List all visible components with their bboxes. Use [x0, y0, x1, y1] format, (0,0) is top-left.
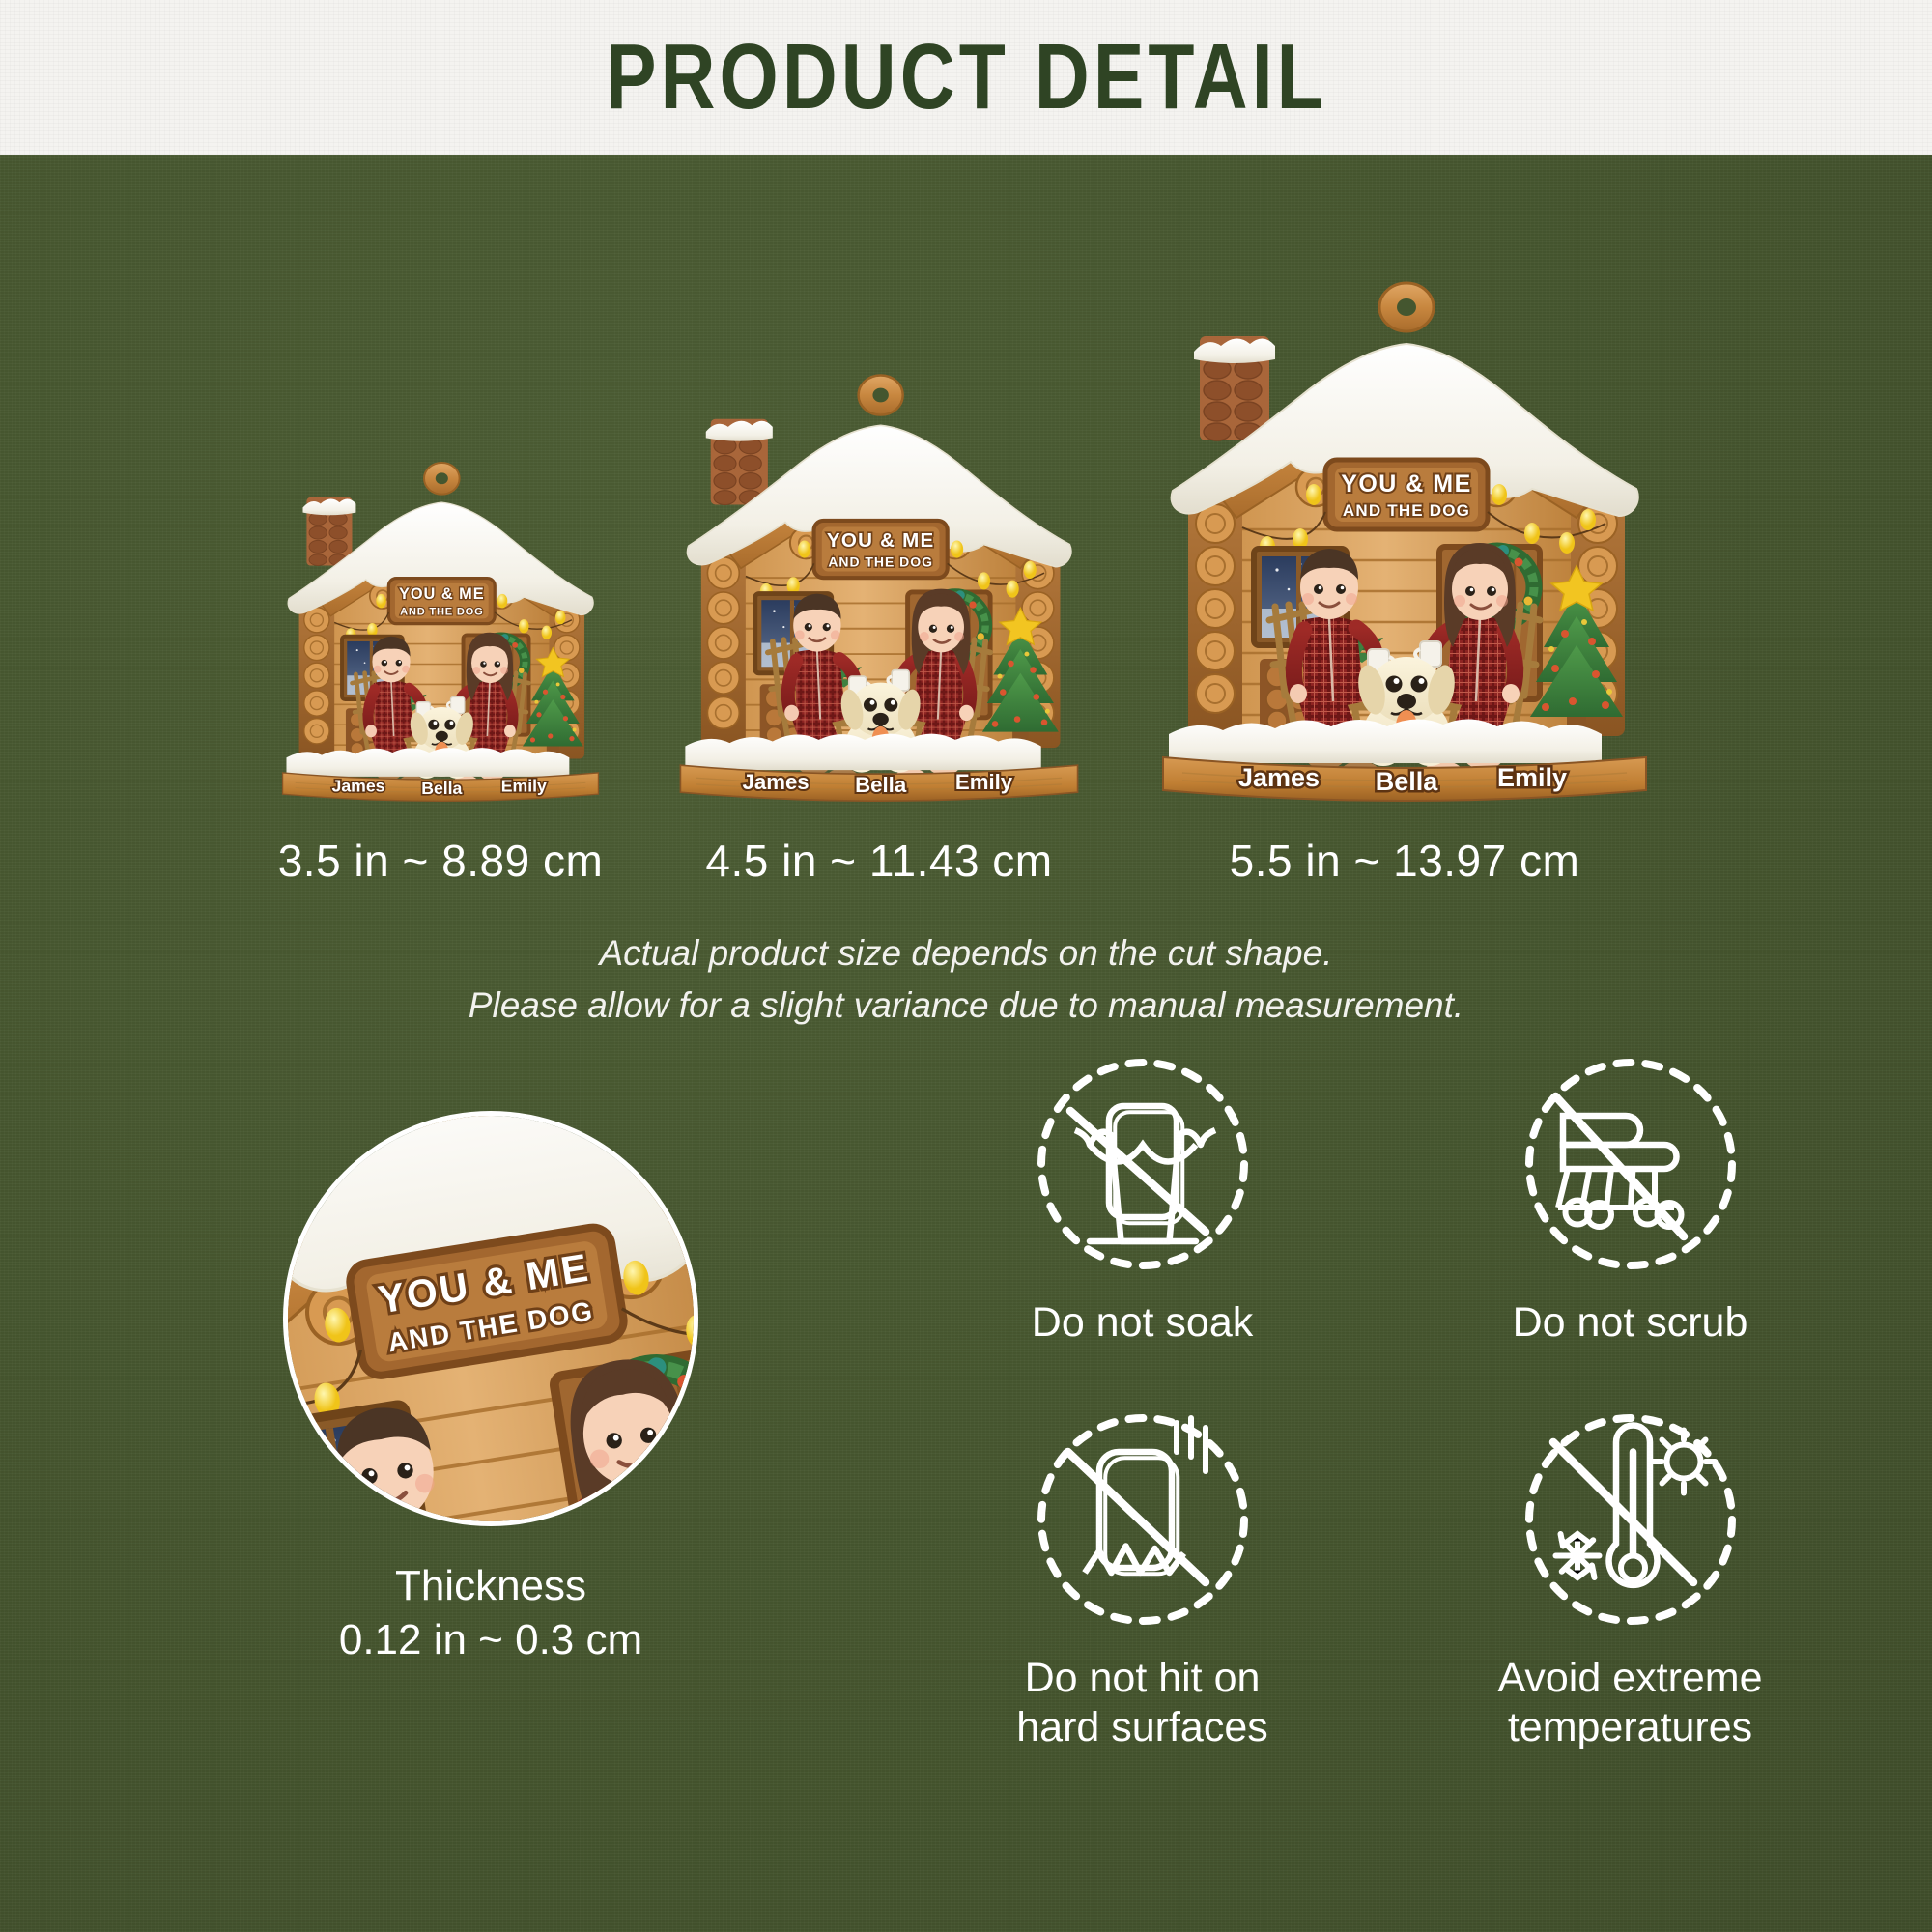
- lower-section: James Bella Thickness 0.12 in ~ 0.3 cm: [0, 1121, 1932, 1932]
- care-label-no-hit: Do not hit on hard surfaces: [1016, 1654, 1268, 1753]
- ornament-name-2: Bella: [421, 779, 462, 798]
- ornament-artwork: James Bella Emily: [276, 461, 605, 802]
- care-item-no-scrub: Do not scrub: [1386, 1043, 1874, 1349]
- ornament-name-1: James: [1238, 763, 1320, 792]
- ornament-closeup-artwork: James Bella: [283, 1111, 698, 1526]
- thickness-value: 0.12 in ~ 0.3 cm: [339, 1613, 642, 1667]
- thickness-closeup-circle: James Bella: [283, 1111, 698, 1526]
- care-label-no-scrub: Do not scrub: [1513, 1298, 1748, 1349]
- care-label-no-temp-line2: temperatures: [1508, 1704, 1752, 1750]
- thickness-title: Thickness: [339, 1559, 642, 1613]
- size-option-medium: James Bella Emily 4.5 in ~ 11.43 cm: [672, 373, 1086, 887]
- size-label-large: 5.5 in ~ 13.97 cm: [1230, 835, 1580, 887]
- care-label-no-hit-line1: Do not hit on: [1025, 1655, 1261, 1701]
- size-option-small: James Bella Emily 3.5 in ~ 8.89 cm: [276, 461, 605, 887]
- no-hit-icon: [1022, 1399, 1264, 1640]
- ornament-name-1: James: [743, 770, 810, 794]
- ornament-name-2: Bella: [1376, 767, 1439, 796]
- page-title: PRODUCT DETAIL: [606, 24, 1327, 130]
- care-label-no-hit-line2: hard surfaces: [1016, 1704, 1268, 1750]
- ornament-preview-medium: James Bella Emily: [672, 373, 1086, 802]
- care-item-no-hit: Do not hit on hard surfaces: [898, 1399, 1386, 1753]
- care-instructions-grid: Do not soak: [898, 1043, 1874, 1753]
- disclaimer-line-1: Actual product size depends on the cut s…: [0, 927, 1932, 980]
- ornament-preview-small: James Bella Emily: [276, 461, 605, 802]
- no-soak-icon: [1022, 1043, 1264, 1285]
- no-temperature-icon: [1510, 1399, 1751, 1640]
- ornament-name-3: Emily: [955, 770, 1013, 794]
- size-label-small: 3.5 in ~ 8.89 cm: [278, 835, 604, 887]
- care-label-no-temperature: Avoid extreme temperatures: [1497, 1654, 1762, 1753]
- care-item-no-temperature: Avoid extreme temperatures: [1386, 1399, 1874, 1753]
- disclaimer-line-2: Please allow for a slight variance due t…: [0, 980, 1932, 1032]
- thickness-closeup-art: James Bella: [283, 1111, 698, 1526]
- ornament-artwork: James Bella Emily: [1153, 280, 1656, 802]
- page-header: PRODUCT DETAIL: [0, 0, 1932, 155]
- product-detail-body: James Bella Emily 3.5 in ~ 8.89 cm James…: [0, 155, 1932, 1932]
- ornament-name-2: Bella: [855, 773, 907, 797]
- ornament-preview-large: James Bella Emily: [1153, 280, 1656, 802]
- thickness-block: James Bella Thickness 0.12 in ~ 0.3 cm: [240, 1111, 742, 1668]
- no-scrub-icon: [1510, 1043, 1751, 1285]
- size-option-large: James Bella Emily 5.5 in ~ 13.97 cm: [1153, 280, 1656, 887]
- ornament-artwork: James Bella Emily: [672, 373, 1086, 802]
- care-label-no-temp-line1: Avoid extreme: [1497, 1655, 1762, 1701]
- care-item-no-soak: Do not soak: [898, 1043, 1386, 1349]
- ornament-name-3: Emily: [501, 777, 547, 796]
- ornament-name-1: James: [332, 777, 385, 796]
- size-label-medium: 4.5 in ~ 11.43 cm: [705, 835, 1052, 887]
- ornament-name-3: Emily: [1497, 763, 1567, 792]
- thickness-caption: Thickness 0.12 in ~ 0.3 cm: [339, 1559, 642, 1668]
- size-disclaimer: Actual product size depends on the cut s…: [0, 927, 1932, 1031]
- size-comparison-row: James Bella Emily 3.5 in ~ 8.89 cm James…: [0, 280, 1932, 887]
- care-label-no-soak: Do not soak: [1032, 1298, 1253, 1349]
